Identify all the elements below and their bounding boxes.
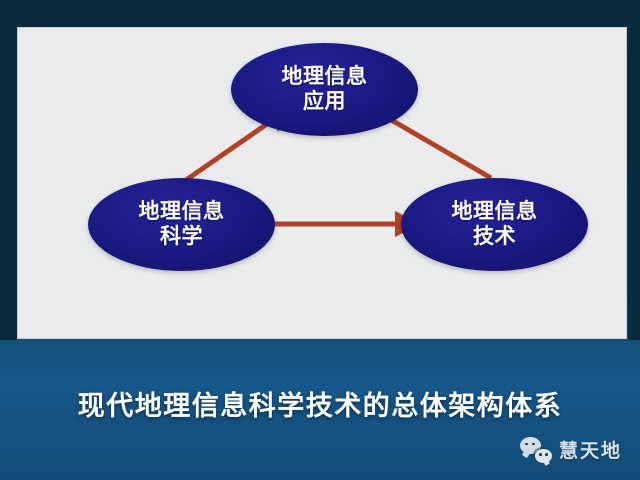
node-geographic-information-application[interactable]: 地理信息 应用 [231, 43, 418, 136]
frame-left-band [0, 0, 17, 340]
arrow-technology-to-application [376, 111, 491, 178]
slide-screenshot: 地理信息 应用 地理信息 科学 地理信息 技术 现代地理信息科学技术的总体架构体… [0, 0, 640, 480]
node-label-line2: 应用 [303, 90, 346, 114]
node-label-line1: 地理信息 [282, 65, 368, 89]
watermark-label: 慧天地 [559, 436, 622, 463]
node-label-line2: 科学 [160, 225, 203, 249]
wechat-icon [520, 437, 552, 463]
frame-right-band [628, 0, 640, 340]
frame-top-band [0, 0, 640, 27]
node-geographic-information-science[interactable]: 地理信息 科学 [88, 178, 275, 271]
architecture-diagram: 地理信息 应用 地理信息 科学 地理信息 技术 [18, 28, 626, 338]
caption-band: 现代地理信息科学技术的总体架构体系 慧天地 [0, 340, 640, 480]
slide-caption-title: 现代地理信息科学技术的总体架构体系 [0, 384, 640, 423]
node-geographic-information-technology[interactable]: 地理信息 技术 [401, 178, 588, 271]
slide-panel: 地理信息 应用 地理信息 科学 地理信息 技术 [18, 28, 626, 338]
watermark: 慧天地 [520, 436, 622, 463]
node-label-line2: 技术 [473, 225, 516, 249]
node-label-line1: 地理信息 [139, 200, 225, 224]
node-label-line1: 地理信息 [452, 200, 538, 224]
